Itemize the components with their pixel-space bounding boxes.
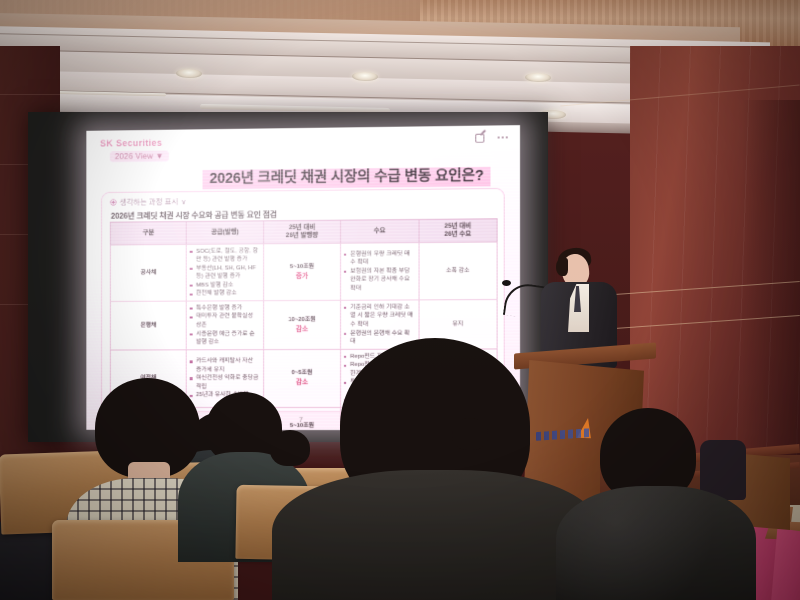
page-title: 2026년 크레딧 채권 시장의 수급 변동 요인은?	[203, 162, 491, 191]
audience-fuzzy-collar	[556, 486, 756, 600]
supply-bullet: 대미투자 관련 불확실성 상존	[190, 313, 260, 330]
table-row: 공사채SOC(도로, 철도, 공항, 항만 등) 관련 발행 증가부동산(LH,…	[110, 242, 497, 302]
cell-supply-delta: 10~20조원감소	[263, 301, 340, 350]
ceiling-downlight	[352, 72, 378, 82]
cell-demand-delta: 소폭 감소	[419, 242, 498, 300]
table-header-row: 구분 공급(발행) 25년 대비 26년 발행량 수요	[110, 219, 497, 245]
thinking-toggle-label: 생각하는 과정 표시	[120, 196, 178, 207]
sparkle-icon	[110, 199, 117, 206]
cell-category: 공사채	[110, 244, 186, 301]
supply-bullet: SOC(도로, 철도, 공항, 항만 등) 관련 발행 증가	[190, 247, 260, 265]
thinking-toggle[interactable]: 생각하는 과정 표시 ∨	[110, 196, 186, 208]
supply-bullet: 특수은행 발행 증가	[190, 304, 260, 313]
cell-category: 은행채	[110, 301, 186, 350]
supply-delta-direction: 증가	[267, 271, 337, 281]
cell-supply-delta: 0~5조원감소	[263, 350, 340, 407]
supply-delta-amount: 10~20조원	[288, 317, 315, 323]
cell-supply: 특수은행 발행 증가대미투자 관련 불확실성 상존시중은행 예금 증가로 순발행…	[187, 301, 264, 350]
brand-label: SK Securities	[100, 138, 162, 149]
supply-bullet: MBS 발행 감소	[190, 281, 260, 290]
supply-delta-direction: 감소	[267, 378, 337, 388]
chevron-down-icon: ▼	[156, 152, 164, 161]
auditorium-scene: SK Securities 2026 View ▼ 2026년 크레딧 채권 시…	[0, 0, 800, 600]
supply-delta-direction: 감소	[267, 325, 337, 335]
demand-bullet: 보험권의 자본 확충 부담 완화로 장기 공사채 수요 확대	[344, 267, 415, 293]
supply-bullet: 카드사와 캐피탈사 자산 증가세 유지	[190, 357, 260, 374]
view-tag-label: 2026 View	[115, 152, 153, 161]
audience-head	[452, 418, 488, 450]
supply-bullet: 여신건전성 악화로 충당금 적립	[190, 374, 260, 391]
speaker-hair-side	[556, 258, 568, 276]
cell-supply-delta: 5~10조원증가	[263, 243, 340, 301]
supply-delta-amount: 5~10조원	[290, 264, 314, 270]
column-header-supply: 공급(발행)	[187, 221, 264, 245]
more-options-icon[interactable]	[498, 136, 508, 138]
supply-delta-amount: 0~5조원	[292, 370, 313, 376]
audience-torso-foreground	[272, 470, 602, 600]
audience-head	[270, 430, 310, 466]
supply-delta-amount: 5~10조원	[290, 423, 314, 429]
cell-supply: SOC(도로, 철도, 공항, 항만 등) 관련 발행 증가부동산(LH, SH…	[187, 244, 264, 302]
ceiling-downlight	[525, 73, 551, 83]
edit-icon[interactable]	[475, 133, 485, 143]
column-header-supply-delta: 25년 대비 26년 발행량	[263, 220, 340, 244]
view-tag[interactable]: 2026 View ▼	[110, 151, 169, 163]
supply-bullet: 부동산(LH, SH, GH, HF 등) 관련 발행 증가	[190, 264, 260, 282]
column-header-demand: 수요	[341, 219, 419, 243]
microphone-icon	[502, 280, 511, 286]
supply-bullet: 시중은행 예금 증가로 순발행 감소	[190, 330, 260, 347]
demand-bullet: 기준금리 인하 기대감 소멸 시 짧은 우량 크레딧 매수 확대	[344, 303, 415, 329]
supply-bullet: 한전채 발행 감소	[190, 290, 260, 299]
column-header-category: 구분	[110, 222, 186, 245]
cell-demand: 은행권의 우량 크레딧 매수 확대보험권의 자본 확충 부담 완화로 장기 공사…	[341, 243, 419, 301]
slide-toolbar[interactable]	[475, 132, 508, 142]
ceiling-downlight	[176, 69, 202, 79]
wall-seam	[0, 94, 60, 95]
demand-bullet: 은행권의 우량 크레딧 매수 확대	[344, 250, 415, 268]
chevron-down-icon: ∨	[181, 198, 186, 206]
column-header-demand-delta: 25년 대비 26년 수요	[419, 219, 498, 243]
